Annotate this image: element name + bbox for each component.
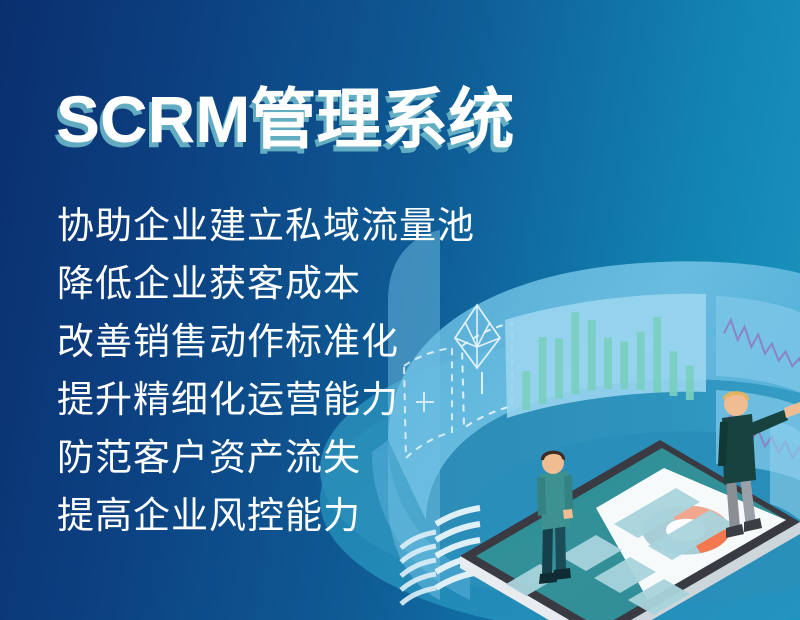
text-layer: SCRM管理系统 协助企业建立私域流量池 降低企业获客成本 改善销售动作标准化 … [0,0,800,620]
list-item: 降低企业获客成本 [57,255,475,313]
list-item: 协助企业建立私域流量池 [57,197,475,255]
list-item: 防范客户资产流失 [57,429,475,487]
list-item: 提高企业风控能力 [57,487,475,545]
poster-banner: SCRM管理系统 协助企业建立私域流量池 降低企业获客成本 改善销售动作标准化 … [0,0,800,620]
page-title: SCRM管理系统 [56,86,514,152]
list-item: 提升精细化运营能力 [57,371,475,429]
list-item: 改善销售动作标准化 [57,313,475,371]
feature-list: 协助企业建立私域流量池 降低企业获客成本 改善销售动作标准化 提升精细化运营能力… [57,197,475,545]
